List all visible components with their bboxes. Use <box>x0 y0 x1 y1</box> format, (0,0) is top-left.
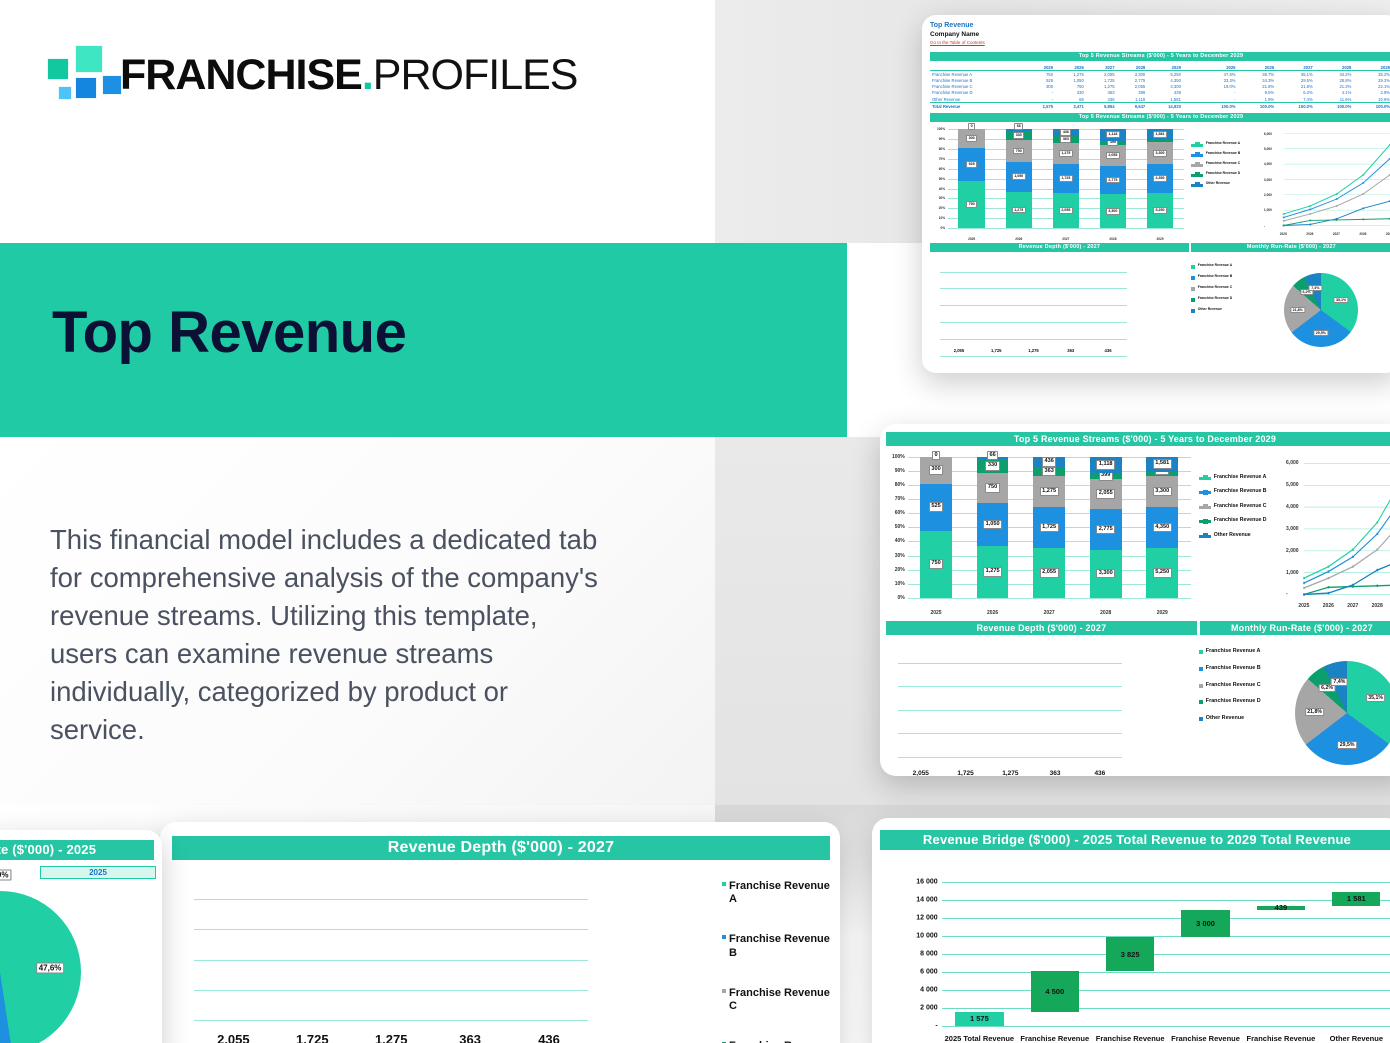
legend-item[interactable]: Franchise Revenue C <box>1191 161 1240 167</box>
revenue-depth-chart[interactable]: 2,0551,7251,275363436 <box>886 639 1197 776</box>
legend-label: Other Revenue <box>1198 307 1222 311</box>
legend-label: Franchise Revenue A <box>1206 141 1240 145</box>
bar-segment[interactable]: 2,775 <box>1100 166 1126 195</box>
legend-item[interactable]: Franchise Revenue D <box>1199 698 1261 705</box>
bar-segment[interactable]: 750 <box>958 181 984 228</box>
x-axis-tick: 2027 <box>1042 237 1089 241</box>
y-axis-tick: 0% <box>898 595 905 601</box>
y-axis-tick: 0% <box>941 226 946 230</box>
legend-swatch <box>1199 700 1203 704</box>
legend-item[interactable]: Other Revenue <box>1191 307 1232 313</box>
y-axis-tick: 4,000 <box>1264 162 1272 166</box>
pie-slice-label: 7,4% <box>1309 285 1322 291</box>
bar-value-label: 300 <box>966 135 977 142</box>
bar-value-label: 363 <box>1060 136 1071 143</box>
x-axis-labels: 2025 Total RevenueFranchise Revenue AFra… <box>942 1034 1390 1043</box>
bar-segment[interactable]: 1,118 <box>1090 457 1122 473</box>
bar-value-label: 2,775 <box>1106 177 1120 184</box>
y-axis-tick: 100% <box>892 454 905 460</box>
bar-segment[interactable]: 525 <box>958 148 984 181</box>
y-axis-tick: 2,000 <box>1264 193 1272 197</box>
legend-label: Franchise Revenue B <box>1214 488 1267 495</box>
legend-item[interactable]: Other Revenue <box>1199 715 1261 722</box>
bar-segment[interactable]: 4,350 <box>1147 164 1173 193</box>
legend-item[interactable]: Franchise Revenue A <box>1199 474 1267 481</box>
bar-value-label: 0 <box>968 123 975 130</box>
revenue-bridge-chart[interactable]: -2 0004 0006 0008 00010 00012 00014 0001… <box>880 854 1390 1043</box>
legend-label: Franchise Revenue D <box>1206 171 1240 175</box>
bl-band-title: Monthly Run-Rate ($'000) - 2025 <box>0 840 154 860</box>
bar-segment[interactable]: 1,275 <box>1053 143 1079 165</box>
legend-swatch <box>1199 667 1203 671</box>
y-axis-tick: 6,000 <box>1264 132 1272 136</box>
bar-segment[interactable]: 1,050 <box>1006 162 1032 192</box>
x-axis-tick: 2029 <box>1136 237 1183 241</box>
pie-slice-label: 0,0% <box>0 869 11 880</box>
brand-name-bold: FRANCHISE <box>120 51 362 99</box>
bar-segment[interactable]: 436 <box>1053 129 1079 136</box>
bar-segment[interactable]: 1,581 <box>1147 129 1173 140</box>
screenshot-card-revenue-bridge[interactable]: Revenue Bridge ($'000) - 2025 Total Reve… <box>872 818 1390 1043</box>
screenshot-card-revenue-depth[interactable]: Revenue Depth ($'000) - 2027 2,0551,7251… <box>160 822 840 1043</box>
legend-item[interactable]: Franchise Revenue B <box>1191 274 1232 280</box>
bar-segment[interactable]: 300 <box>958 129 984 148</box>
legend-label: Franchise Revenue B <box>1206 151 1240 155</box>
x-axis-tick: 2028 <box>1372 603 1383 609</box>
bar-segment[interactable]: 1,725 <box>1033 507 1065 549</box>
waterfall-bar[interactable]: 4 500 <box>1031 971 1079 1012</box>
bar-segment[interactable]: 439 <box>1147 140 1173 143</box>
stacked-bar[interactable]: 1,2751,05075033066 <box>1006 129 1032 228</box>
x-axis-tick: 2025 <box>948 237 995 241</box>
bar-value-label: 2,055 <box>1096 489 1115 499</box>
waterfall-bar[interactable]: 3 000 <box>1181 910 1229 937</box>
x-axis-tick: Other Revenue <box>1319 1034 1390 1043</box>
legend-label: Other Revenue <box>1206 715 1244 722</box>
gridline: - <box>942 1026 1390 1027</box>
stacked-bar[interactable]: 75052530000 <box>958 129 984 228</box>
waterfall-bar[interactable]: 439 <box>1257 906 1305 910</box>
waterfall-bar[interactable]: 1 581 <box>1332 892 1380 906</box>
bar-value-label: 436 <box>515 1032 583 1043</box>
bar-value-label: 5,250 <box>1153 568 1172 578</box>
legend-swatch <box>1191 298 1195 302</box>
bar-segment[interactable]: 2,055 <box>1033 548 1065 598</box>
legend-label: Franchise Revenue B <box>1198 274 1232 278</box>
bar-segment[interactable]: 66 <box>977 457 1009 460</box>
bar-group: 2,0551,7251,275363436 <box>898 663 1122 776</box>
legend-swatch <box>1191 154 1203 157</box>
y-axis-tick: 30% <box>939 196 945 200</box>
legend-swatch <box>1199 535 1211 538</box>
bar-segment[interactable]: 750 <box>1006 140 1032 161</box>
bar-segment[interactable]: 5,250 <box>1147 193 1173 228</box>
legend-swatch <box>1199 477 1211 480</box>
x-axis-tick: 2028 <box>1077 610 1134 616</box>
bar-segment[interactable]: 1,118 <box>1100 129 1126 140</box>
y-axis-tick: 5,000 <box>1264 147 1272 151</box>
description-paragraph: This financial model includes a dedicate… <box>50 521 610 749</box>
waterfall-bar[interactable]: 3 825 <box>1106 937 1154 971</box>
stacked-bar[interactable]: 3,3002,7752,0553991,118 <box>1100 129 1126 228</box>
bar-segment[interactable]: 1,275 <box>977 546 1009 598</box>
legend-swatch <box>1191 287 1195 291</box>
plot-area: 0%10%20%30%40%50%60%70%80%90%100%7505253… <box>948 129 1183 228</box>
pie-chart-small[interactable]: 35,1%29,5%21,8%6,2%7,4% <box>1263 254 1390 362</box>
bar-group: 2,0551,7251,275363436 <box>194 899 589 1043</box>
bar-value-label: 300 <box>929 465 943 475</box>
y-axis-tick: - <box>1264 224 1265 228</box>
bar-value-label: 1,275 <box>357 1032 425 1043</box>
legend-swatch <box>1199 506 1211 509</box>
y-axis-tick: 80% <box>939 147 945 151</box>
x-axis-tick: 2025 <box>1298 603 1309 609</box>
bar-value-label: 750 <box>985 483 999 493</box>
legend-item[interactable]: Franchise Revenue B <box>1199 488 1267 495</box>
legend: Franchise Revenue AFranchise Revenue BFr… <box>722 880 830 1043</box>
y-axis-tick: 6 000 <box>920 969 938 976</box>
legend-label: Franchise Revenue A <box>1206 648 1261 655</box>
chart-band-title-1: Top 5 Revenue Streams ($'000) - 5 Years … <box>930 113 1390 122</box>
bar-segment[interactable]: 3,300 <box>1146 476 1178 507</box>
x-axis-tick: 2028 <box>1359 232 1366 236</box>
bar-value-label: 3,300 <box>1096 569 1115 579</box>
x-axis-tick: 2027 <box>1333 232 1340 236</box>
bar-value-label: 1,725 <box>946 770 984 776</box>
y-axis-tick: 60% <box>895 510 905 516</box>
x-axis-tick: 2025 Total Revenue <box>942 1034 1017 1043</box>
legend-item[interactable]: Other Revenue <box>1199 532 1267 539</box>
bar-value-label: 5,250 <box>1153 207 1167 214</box>
y-axis-tick: 90% <box>939 137 945 141</box>
legend-swatch <box>722 989 726 993</box>
legend-swatch <box>722 882 726 886</box>
x-axis-tick: Franchise Revenue C <box>1168 1034 1243 1043</box>
bar-value-label: 2,055 <box>943 348 975 353</box>
y-axis-tick: 60% <box>939 167 945 171</box>
bar-columns: 750525300001,2751,050750330662,0551,7251… <box>908 457 1191 598</box>
x-axis-tick: 2027 <box>1021 610 1078 616</box>
legend-label: Franchise Revenue D <box>1206 698 1261 705</box>
y-axis-tick: 2,000 <box>1286 548 1299 554</box>
bar-segment[interactable]: 439 <box>1146 472 1178 476</box>
y-axis-tick: 100% <box>937 127 945 131</box>
y-axis-tick: 50% <box>939 177 945 181</box>
brand-wordmark: FRANCHISE.PROFILES <box>120 40 577 110</box>
stacked-bar[interactable]: 2,0551,7251,275363436 <box>1053 129 1079 228</box>
x-axis-tick: Franchise Revenue A <box>1017 1034 1092 1043</box>
chart-band-title-3: Monthly Run-Rate ($'000) - 2027 <box>1191 243 1390 252</box>
table-header-row: 2025 2026 2027 2028 2029 2025 2026 2027 … <box>930 64 1390 71</box>
revenue-depth-chart-small[interactable]: 2,0551,7251,275363436 <box>930 254 1189 362</box>
x-axis-tick: 2026 <box>995 237 1042 241</box>
bar-value-label: 363 <box>1036 770 1074 776</box>
bar-value-label: 1,050 <box>1012 173 1026 180</box>
bar-segment[interactable]: 399 <box>1100 141 1126 145</box>
legend-label: Franchise Revenue C <box>1198 285 1232 289</box>
bar-segment[interactable]: 363 <box>1033 467 1065 476</box>
y-axis-tick: 90% <box>895 468 905 474</box>
bar-segment[interactable]: 5,250 <box>1146 548 1178 598</box>
x-axis-labels: 20252026202720282029 <box>948 237 1183 241</box>
mr-band-title-1: Top 5 Revenue Streams ($'000) - 5 Years … <box>886 432 1390 446</box>
bar-value-label: 1,725 <box>1040 523 1059 533</box>
legend-label: Franchise Revenue A <box>729 880 830 908</box>
legend: Franchise Revenue AFranchise Revenue BFr… <box>1199 648 1261 732</box>
bc-band-title: Revenue Depth ($'000) - 2027 <box>172 836 830 860</box>
pie-slice-label: 21,8% <box>1305 708 1325 716</box>
bar-value-label: 363 <box>436 1032 504 1043</box>
depth-legend-small: Franchise Revenue AFranchise Revenue BFr… <box>1189 254 1263 362</box>
screenshot-card-mid-right[interactable]: Top 5 Revenue Streams ($'000) - 5 Years … <box>880 424 1390 776</box>
depth-legend-large: Franchise Revenue AFranchise Revenue BFr… <box>720 868 830 1043</box>
bar-value-label: 1,118 <box>1106 131 1120 138</box>
stacked-bar-chart[interactable]: 0%10%20%30%40%50%60%70%80%90%100%7505253… <box>886 450 1197 618</box>
stacked-bar[interactable]: 5,2504,3503,3004391,581 <box>1147 129 1173 228</box>
y-axis-tick: 10% <box>939 216 945 220</box>
plot-area: 2,0551,7251,275363436 <box>940 272 1126 356</box>
y-axis-tick: 50% <box>895 524 905 530</box>
line-chart-small[interactable]: -1,0002,0003,0004,0005,0006,000202520262… <box>1263 124 1390 242</box>
legend-label: Franchise Revenue B <box>729 933 830 961</box>
bar-value-label: 1,725 <box>278 1032 346 1043</box>
legend-swatch <box>1199 520 1211 523</box>
legend-item[interactable]: Franchise Revenue C <box>1199 503 1267 510</box>
legend-label: Other Revenue <box>1206 181 1230 185</box>
brand-name-dot: . <box>362 51 373 99</box>
legend-item[interactable]: Franchise Revenue D <box>1191 171 1240 177</box>
waterfall-bar[interactable]: 1 575 <box>955 1012 1003 1026</box>
legend-swatch <box>1199 650 1203 654</box>
bar-value-label: 3,300 <box>1153 487 1172 497</box>
legend-item[interactable]: Franchise Revenue B <box>722 933 830 961</box>
bar-value-label: 2,055 <box>199 1032 267 1043</box>
legend-item[interactable]: Franchise Revenue B <box>1199 665 1261 672</box>
bar-value-label: 2,055 <box>1059 207 1073 214</box>
y-axis-tick: 20% <box>895 567 905 573</box>
bar-value-label: 4,350 <box>1153 175 1167 182</box>
pie-slice-label: 7,4% <box>1331 678 1348 686</box>
y-axis-tick: 30% <box>895 553 905 559</box>
x-axis-tick: Franchise Revenue D <box>1243 1034 1318 1043</box>
bar-value-label: 330 <box>1013 132 1024 139</box>
legend-item[interactable]: Franchise Revenue B <box>1191 151 1240 157</box>
legend-swatch <box>1191 164 1203 167</box>
gridline: 0% <box>948 228 1183 229</box>
bar-columns: 750525300001,2751,050750330662,0551,7251… <box>948 129 1183 228</box>
bar-value-label: 66 <box>1014 123 1023 130</box>
pie-slice-label: 47,6% <box>36 963 64 974</box>
revenue-depth-chart-large[interactable]: 2,0551,7251,275363436 <box>172 868 720 1043</box>
bar-value-label: 330 <box>985 461 999 471</box>
line-chart[interactable]: -1,0002,0003,0004,0005,0006,000202520262… <box>1285 450 1390 618</box>
stacked-bar[interactable]: 5,2504,3503,3004391,581 <box>1146 457 1178 598</box>
chart-band-title-2: Revenue Depth ($'000) - 2027 <box>930 243 1189 252</box>
y-axis-tick: 70% <box>895 496 905 502</box>
bar-value-label: 1,275 <box>1017 348 1049 353</box>
legend-label: Franchise Revenue A <box>1214 474 1267 481</box>
legend: Franchise Revenue AFranchise Revenue BFr… <box>1199 474 1267 547</box>
x-axis-tick: 2028 <box>1089 237 1136 241</box>
bar-segment[interactable]: 66 <box>1006 129 1032 131</box>
revenue-table: 2025 2026 2027 2028 2029 2025 2026 2027 … <box>930 64 1390 109</box>
pie-slice-label: 29,5% <box>1337 741 1357 749</box>
bar-segment[interactable]: 330 <box>1006 131 1032 140</box>
bar-segment[interactable]: 1,050 <box>977 503 1009 546</box>
bar-value-label: 1,275 <box>983 567 1002 577</box>
bar-value-label: 2,055 <box>902 770 940 776</box>
bar-segment[interactable]: 2,055 <box>1053 193 1079 228</box>
bar-segment[interactable]: 363 <box>1053 136 1079 142</box>
bar-segment[interactable]: 436 <box>1033 457 1065 468</box>
pie-chart-2025[interactable]: 47,6%33,3%19,0%0,0%0,0% <box>0 880 162 1043</box>
bar-segment[interactable]: 525 <box>920 484 952 531</box>
bar-group: 2,0551,7251,275363436 <box>940 272 1126 356</box>
x-axis-tick: 2025 <box>908 610 965 616</box>
bar-segment[interactable]: 2,055 <box>1090 479 1122 509</box>
bar-value-label: 66 <box>987 451 998 461</box>
y-axis-tick: 3,000 <box>1264 178 1272 182</box>
bar-value-label: 525 <box>929 502 943 512</box>
bar-segment[interactable]: 750 <box>977 473 1009 503</box>
bar-value-label: 0 <box>932 451 940 461</box>
table-row: Franchise Revenue A 7501,275 2,0553,300 … <box>930 71 1390 78</box>
pie-chart-2027[interactable]: 35,1%29,5%21,8%6,2%7,4% <box>1285 639 1390 776</box>
bar-value-label: 1,725 <box>980 348 1012 353</box>
bar-segment[interactable]: 300 <box>920 457 952 484</box>
year-tab-2025[interactable]: 2025 <box>40 866 156 879</box>
y-axis-tick: 4 000 <box>920 987 938 994</box>
legend-item[interactable]: Franchise Revenue A <box>1199 648 1261 655</box>
bar-value-label: 4,350 <box>1153 523 1172 533</box>
y-axis-tick: 10% <box>895 581 905 587</box>
y-axis-tick: 16 000 <box>916 879 937 886</box>
bar-value-label: 1,050 <box>983 520 1002 530</box>
bar-segment[interactable]: 1,581 <box>1146 457 1178 472</box>
legend-item[interactable]: Other Revenue <box>1191 181 1240 187</box>
screenshot-card-pie-2025[interactable]: Monthly Run-Rate ($'000) - 2025 2025 47,… <box>0 830 162 1043</box>
y-axis-tick: 12 000 <box>916 915 937 922</box>
legend-swatch <box>1199 491 1211 494</box>
bar-value-label: 1,118 <box>1096 460 1115 470</box>
table-total-row: Total Revenue 1,5753,471 5,8549,647 14,9… <box>930 103 1390 110</box>
stacked-bar[interactable]: 2,0551,7251,275363436 <box>1033 457 1065 598</box>
legend-item[interactable]: Franchise Revenue A <box>1191 141 1240 147</box>
waterfall-columns: 1 5754 5003 8253 0004391 581 <box>942 882 1390 1026</box>
y-axis-tick: 70% <box>939 157 945 161</box>
stacked-bar[interactable]: 1,2751,05075033066 <box>977 457 1009 598</box>
legend-swatch <box>1191 309 1195 313</box>
legend-swatch <box>1199 684 1203 688</box>
legend-item[interactable]: Franchise Revenue C <box>1199 682 1261 689</box>
bar-segment[interactable]: 3,300 <box>1147 142 1173 164</box>
y-axis-tick: 80% <box>895 482 905 488</box>
stacked-bar-chart-small[interactable]: 0%10%20%30%40%50%60%70%80%90%100%7505253… <box>930 124 1189 242</box>
legend-swatch <box>1191 184 1203 187</box>
stacked-bar[interactable]: 75052530000 <box>920 457 952 598</box>
bar-value-label: 750 <box>929 559 943 569</box>
legend-label: Franchise Revenue C <box>729 987 830 1015</box>
y-axis-tick: 40% <box>939 187 945 191</box>
bar-value-label: 3,300 <box>1153 150 1167 157</box>
bar-segment[interactable]: 1,275 <box>1006 192 1032 228</box>
bar-value-label: 436 <box>1092 348 1124 353</box>
y-axis-tick: 8 000 <box>920 951 938 958</box>
x-axis-tick: 2027 <box>1347 603 1358 609</box>
bar-segment[interactable]: 4,350 <box>1146 507 1178 548</box>
legend-swatch <box>1191 276 1195 280</box>
x-axis-labels: 20252026202720282029 <box>908 610 1191 616</box>
legend-item[interactable]: Franchise Revenue A <box>1191 263 1232 269</box>
legend-item[interactable]: Franchise Revenue A <box>722 880 830 908</box>
bar-segment[interactable]: 750 <box>920 531 952 598</box>
legend-item[interactable]: Franchise Revenue D <box>1191 296 1232 302</box>
legend-item[interactable]: Franchise Revenue C <box>722 987 830 1015</box>
legend-item[interactable]: Franchise Revenue D <box>1199 517 1267 524</box>
bg-plate-top-left <box>0 0 715 243</box>
bar-value-label: 1,275 <box>991 770 1029 776</box>
pie-slice-label: 35,1% <box>1333 297 1348 303</box>
bar-segment[interactable]: 2,055 <box>1100 145 1126 166</box>
bar-value-label: 436 <box>1060 129 1071 136</box>
bar-value-label: 436 <box>1081 770 1119 776</box>
y-axis-tick: 1,000 <box>1286 570 1299 576</box>
legend-label: Franchise Revenue C <box>1206 161 1240 165</box>
legend-label: Franchise Revenue B <box>1206 665 1261 672</box>
x-axis-tick: 2026 <box>964 610 1021 616</box>
toc-link[interactable]: Go to the Table of Contents <box>930 39 1390 47</box>
pie-slice-label: 21,8% <box>1290 307 1305 313</box>
y-axis-tick: 40% <box>895 538 905 544</box>
chart-legend-small: Franchise Revenue AFranchise Revenue BFr… <box>1189 124 1263 242</box>
bar-segment[interactable]: 1,725 <box>1053 164 1079 193</box>
sheet-title: Top Revenue <box>930 21 1390 30</box>
legend-swatch <box>1199 717 1203 721</box>
bar-value-label: 2,055 <box>1040 568 1059 578</box>
bar-segment[interactable]: 2,775 <box>1090 509 1122 550</box>
y-axis-tick: 2 000 <box>920 1005 938 1012</box>
sheet-company: Company Name <box>930 30 1390 39</box>
bar-value-label: 1,275 <box>1059 150 1073 157</box>
stacked-bar[interactable]: 3,3002,7752,0553991,118 <box>1090 457 1122 598</box>
bar-segment[interactable]: 399 <box>1090 473 1122 479</box>
pie-slice-label: 29,5% <box>1313 330 1328 336</box>
screenshot-card-top-right[interactable]: Top Revenue Company Name Go to the Table… <box>922 15 1390 373</box>
brand-name-light: PROFILES <box>373 51 578 99</box>
bar-value-label: 363 <box>1055 348 1087 353</box>
legend-label: Other Revenue <box>1214 532 1251 539</box>
bar-segment[interactable]: 3,300 <box>1090 550 1122 598</box>
table-row: Other Revenue -66 4361,118 1,581 -1.9% 7… <box>930 96 1390 103</box>
bar-value-label: 750 <box>1013 148 1024 155</box>
bar-segment[interactable]: 1,275 <box>1033 476 1065 507</box>
x-axis-tick: 2025 <box>1280 232 1287 236</box>
legend-label: Franchise Revenue A <box>1198 263 1232 267</box>
brand-logo: FRANCHISE.PROFILES <box>44 40 544 110</box>
slide-canvas: Top Revenue FRANCHISE.PROFILES This fina… <box>0 0 1390 1043</box>
bar-value-label: 525 <box>966 161 977 168</box>
legend-item[interactable]: Franchise Revenue C <box>1191 285 1232 291</box>
y-axis-tick: 14 000 <box>916 897 937 904</box>
legend-swatch <box>1191 174 1203 177</box>
legend-swatch <box>1191 265 1195 269</box>
bar-segment[interactable]: 3,300 <box>1100 194 1126 228</box>
bar-segment[interactable]: 330 <box>977 459 1009 472</box>
bar-value-label: 2,055 <box>1106 152 1120 159</box>
legend: Franchise Revenue AFranchise Revenue BFr… <box>1191 263 1232 318</box>
gridline <box>940 356 1126 357</box>
x-axis-tick: Franchise Revenue B <box>1092 1034 1167 1043</box>
